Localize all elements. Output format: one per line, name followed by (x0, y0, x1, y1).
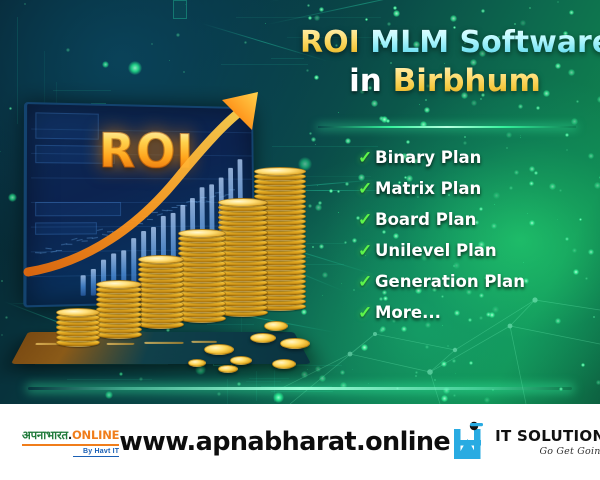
coin (138, 255, 184, 264)
headline-space-2 (382, 63, 393, 99)
coin-stack (96, 275, 142, 339)
particle (1, 334, 3, 336)
particle (337, 190, 340, 193)
coin (96, 280, 142, 289)
particle (386, 119, 390, 123)
loose-coin (218, 365, 238, 373)
feature-label: Binary Plan (375, 148, 481, 167)
particle (183, 71, 185, 73)
particle (318, 201, 322, 205)
banner-root: ROI (0, 0, 600, 480)
coin (254, 167, 306, 176)
particle (520, 137, 521, 138)
particle (314, 15, 320, 21)
it-solutions-logo[interactable]: IT SOLUTIONS Go Get Going... (450, 421, 600, 463)
particle (329, 189, 333, 193)
circuit-node (128, 61, 142, 75)
particle (151, 43, 153, 45)
feature-item: ✓Binary Plan (358, 142, 588, 173)
h-monogram-icon (450, 421, 490, 463)
particle (0, 151, 1, 152)
particle (169, 60, 170, 61)
particle (529, 7, 531, 9)
footer-bar: अपनाभारत.ONLINE By Havt IT www.apnabhara… (0, 404, 600, 480)
particle (506, 132, 512, 138)
coin-stack (178, 224, 226, 323)
circuit-trace-diagonal (267, 0, 458, 25)
particle (66, 48, 70, 52)
apnabharat-logo[interactable]: अपनाभारत.ONLINE By Havt IT (22, 428, 119, 457)
particle (345, 182, 349, 186)
headline: ROI MLM Software in Birbhum (300, 28, 590, 97)
circuit-node (8, 193, 17, 202)
particle (371, 100, 378, 107)
feature-item: ✓Matrix Plan (358, 173, 588, 204)
particle (217, 392, 221, 396)
particle (450, 15, 457, 22)
feature-label: Matrix Plan (375, 179, 481, 198)
particle (557, 1, 559, 3)
it-solutions-name: IT SOLUTIONS (495, 427, 600, 445)
apnabharat-tld: ONLINE (72, 428, 119, 442)
feature-item: ✓More... (358, 297, 588, 328)
particle (345, 138, 351, 144)
headline-divider (318, 126, 576, 128)
particle (9, 107, 12, 110)
coin-stack (138, 250, 184, 329)
particle (424, 107, 430, 113)
apnabharat-byline: By Havt IT (22, 448, 119, 455)
loose-coin (264, 321, 288, 331)
check-icon: ✓ (358, 304, 375, 321)
particle (520, 135, 521, 136)
circuit-trace-diagonal (270, 0, 431, 2)
circuit-node (102, 61, 109, 68)
particle (565, 133, 569, 137)
feature-item: ✓Generation Plan (358, 266, 588, 297)
feature-label: Unilevel Plan (375, 241, 497, 260)
loose-coin (230, 356, 252, 365)
particle (518, 104, 523, 109)
particle (536, 106, 540, 110)
apnabharat-byline-underline (73, 456, 119, 457)
loose-coin (188, 359, 206, 367)
particle (338, 112, 339, 113)
particle (471, 100, 477, 106)
check-icon: ✓ (358, 180, 375, 197)
coin-stack (56, 303, 100, 347)
particle (244, 41, 247, 44)
particle (265, 23, 266, 24)
roi-illustration: ROI (18, 98, 318, 383)
particle (307, 4, 310, 7)
circuit-node (105, 391, 113, 399)
apnabharat-hindi: अपनाभारत (22, 428, 68, 442)
particle (588, 153, 594, 159)
particle (464, 136, 466, 138)
apnabharat-underline (22, 444, 119, 446)
circuit-trace (221, 64, 308, 65)
feature-label: Board Plan (375, 210, 476, 229)
loose-coin (204, 344, 234, 355)
particle (481, 9, 485, 13)
headline-mlm-software: MLM Software (370, 25, 600, 60)
particle (319, 7, 324, 12)
particle (425, 99, 427, 101)
coin (178, 229, 226, 238)
particle (594, 182, 600, 189)
particle (419, 104, 420, 105)
loose-coin (250, 333, 276, 343)
headline-space (360, 25, 370, 60)
particle (571, 118, 578, 125)
particle (5, 316, 8, 319)
particle (1, 280, 3, 282)
loose-coin (272, 359, 296, 369)
feature-item: ✓Unilevel Plan (358, 235, 588, 266)
circuit-chip (173, 0, 187, 19)
headline-in: in (349, 63, 382, 99)
apnabharat-logo-text: अपनाभारत.ONLINE (22, 428, 119, 443)
particle (185, 4, 186, 5)
website-url[interactable]: www.apnabharat.online (119, 427, 450, 457)
check-icon: ✓ (358, 273, 375, 290)
feature-list: ✓Binary Plan✓Matrix Plan✓Board Plan✓Unil… (358, 142, 588, 328)
check-icon: ✓ (358, 242, 375, 259)
loose-coin (280, 338, 310, 349)
particle (176, 33, 180, 37)
feature-item: ✓Board Plan (358, 204, 588, 235)
check-icon: ✓ (358, 211, 375, 228)
feature-label: Generation Plan (375, 272, 525, 291)
it-solutions-text: IT SOLUTIONS Go Get Going... (495, 427, 600, 457)
headline-location: Birbhum (393, 63, 541, 99)
hero-bottom-glow (28, 387, 572, 390)
particle (308, 16, 312, 20)
it-solutions-tagline: Go Get Going... (495, 446, 600, 457)
particle (393, 10, 400, 17)
headline-roi: ROI (300, 25, 360, 60)
check-icon: ✓ (358, 149, 375, 166)
particle (24, 3, 26, 5)
particle (569, 10, 574, 15)
particle (338, 212, 339, 213)
hero-background: ROI (0, 0, 600, 404)
particle (365, 18, 368, 21)
feature-label: More... (375, 303, 441, 322)
coin (56, 308, 100, 317)
particle (576, 100, 579, 103)
